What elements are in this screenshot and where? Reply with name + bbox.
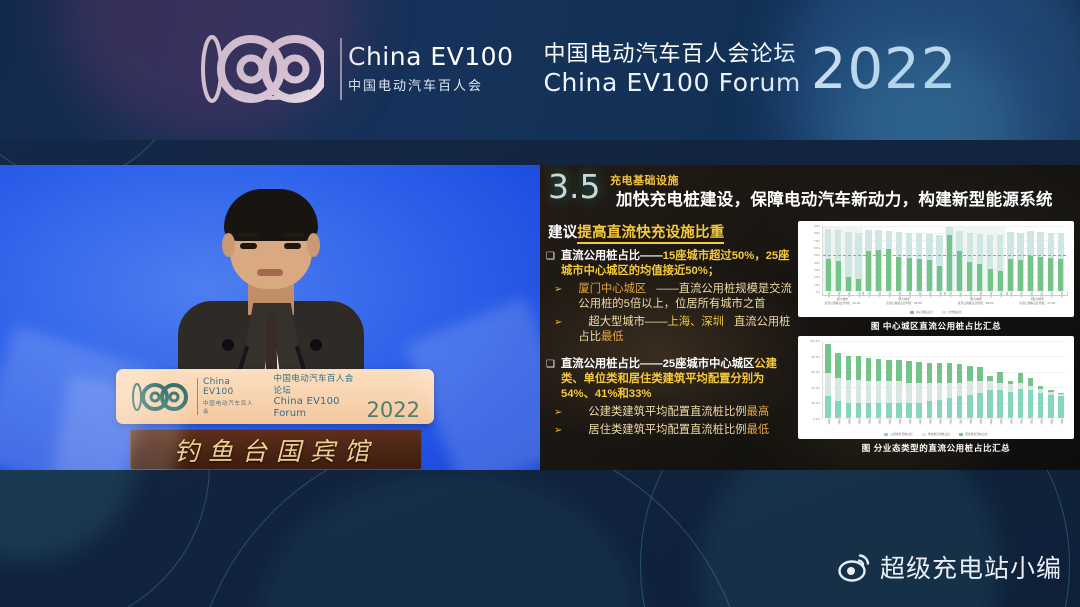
- y-axis-tick-label: 50%: [814, 253, 820, 257]
- chart-bar-value: [856, 279, 861, 291]
- chart-stack-segment: [937, 363, 942, 383]
- slide-header: 3.5 充电基础设施 加快充电桩建设，保障电动汽车新动力，构建新型能源系统: [548, 170, 1072, 216]
- bullet-arrow-icon: ➢: [554, 423, 562, 438]
- chart-stacked-bar: [846, 356, 851, 418]
- chart-stacked-bar: [896, 359, 901, 418]
- chart-bar-slot: 城市: [914, 226, 924, 291]
- podium-title-cn: 中国电动汽车百人会论坛: [274, 373, 362, 395]
- chart-stack-segment: [997, 372, 1002, 383]
- chart-bar-slot: 城市: [965, 341, 975, 418]
- chart-plot-area: 城市城市城市城市城市城市城市城市城市城市城市城市城市城市城市城市城市城市城市城市…: [822, 226, 1066, 292]
- chart-stack-segment: [1018, 373, 1023, 382]
- slide-section-number: 3.5: [548, 170, 600, 203]
- chart-bar-slot: 城市: [1005, 226, 1015, 291]
- weibo-icon: [838, 551, 871, 584]
- chart-stack-segment: [866, 381, 871, 403]
- slide-bullet-item: ➢公建类建筑平均配置直流桩比例最高: [546, 405, 798, 420]
- chart-bar-slot: 城市: [864, 341, 874, 418]
- y-axis-tick-label: 100.0%: [810, 339, 820, 343]
- chart-stack-segment: [856, 356, 861, 379]
- x-axis-tick-label: 城市: [836, 418, 840, 424]
- bullet-arrow-icon: ➢: [554, 315, 562, 345]
- chart-bar-value: [998, 271, 1003, 291]
- chart-bar-value: [907, 258, 912, 291]
- chart-bar-slot: 城市: [934, 341, 944, 418]
- slide-bullet-item: ➢居住类建筑平均配置直流桩比例最低: [546, 423, 798, 438]
- chart-stack-segment: [957, 364, 962, 382]
- banner-logo-en: China EV100: [348, 44, 513, 70]
- x-axis-tick-label: 城市: [1008, 418, 1012, 424]
- chart-bar-value: [1058, 259, 1063, 291]
- chart-stacked-bar: [927, 363, 932, 418]
- chart-stack-segment: [1048, 395, 1053, 418]
- chart-bar-slot: 城市: [874, 341, 884, 418]
- x-axis-tick-label: 城市: [1059, 418, 1063, 424]
- chart-bar-slot: 城市: [934, 226, 944, 291]
- chart-bar-slot: 城市: [945, 226, 955, 291]
- x-axis-tick-label: 城市: [846, 418, 850, 424]
- chart-stacked-bar: [1058, 393, 1063, 418]
- chart-stack-segment: [896, 360, 901, 382]
- y-axis-tick-label: 30%: [814, 268, 820, 272]
- x-axis-tick-label: 城市: [927, 418, 931, 424]
- chart-stack-segment: [937, 400, 942, 418]
- chart-stack-segment: [835, 378, 840, 401]
- chart-stacked-bar: [987, 376, 992, 418]
- podium-logo-cn: 中国电动汽车百人会: [203, 399, 259, 415]
- chart-bar-slot: 城市: [985, 341, 995, 418]
- chart-stacked-bar: [1008, 381, 1013, 418]
- x-axis-tick-label: 城市: [978, 418, 982, 424]
- chart-stack-segment: [997, 383, 1002, 391]
- y-axis-tick-label: 80%: [814, 231, 820, 235]
- chart-bar-slot: 城市: [985, 226, 995, 291]
- chart-stacked-bar: [916, 362, 921, 418]
- chart-stack-segment: [906, 403, 911, 418]
- chart-stack-segment: [896, 403, 901, 418]
- chart-stack-segment: [876, 359, 881, 381]
- bullet-text-segment: 直流公用桩占比——: [561, 250, 663, 262]
- slide-bullet-list: ❑直流公用桩占比——15座城市超过50%，25座城市中心城区的均值接近50%；➢…: [546, 249, 798, 441]
- chart-stack-segment: [916, 403, 921, 418]
- y-axis-tick-label: 90%: [814, 224, 820, 228]
- chart-stack-segment: [916, 362, 921, 383]
- bullet-text-segment: 最低: [747, 424, 770, 436]
- chart-stack-segment: [1058, 396, 1063, 418]
- chart-bar-slot: 城市: [853, 341, 863, 418]
- chart-stacked-bar: [856, 356, 861, 418]
- chart-group-label: 特大城市直流公用桩占比均值：46.9%: [863, 297, 945, 305]
- x-axis-tick-label: 城市: [917, 418, 921, 424]
- chart-legend-item: 居住类直流桩占比: [959, 432, 987, 436]
- chart-stack-segment: [967, 381, 972, 395]
- chart-stack-segment: [947, 398, 952, 418]
- banner-logo-cn: 中国电动汽车百人会: [348, 75, 513, 94]
- chart-stacked-bar: [997, 372, 1002, 418]
- x-axis-tick-label: 城市: [1029, 418, 1033, 424]
- chart-stack-segment: [835, 401, 840, 418]
- x-axis-tick-label: 城市: [877, 418, 881, 424]
- chart-stack-segment: [825, 396, 830, 418]
- chart-group-label: 超大城市直流公用桩占比均值：34.1%: [822, 297, 863, 305]
- y-axis-tick-label: 60%: [814, 246, 820, 250]
- chart-stack-segment: [856, 380, 861, 403]
- chart-bar-slot: 城市: [823, 226, 833, 291]
- chart-bar-slot: 城市: [1026, 226, 1036, 291]
- chart-bar-slot: 城市: [914, 341, 924, 418]
- bullet-text: 居住类建筑平均配置直流桩比例最低: [578, 423, 769, 438]
- chart-stack-segment: [967, 366, 972, 381]
- chart-stack-segment: [957, 396, 962, 418]
- chart-legend-item: 公建类直流桩占比: [884, 432, 912, 436]
- bullet-text: 直流公用桩占比——15座城市超过50%，25座城市中心城区的均值接近50%；: [561, 249, 798, 279]
- bullet-text-segment: 最低: [601, 331, 624, 343]
- y-axis-tick-label: 60.0%: [811, 370, 820, 374]
- chart-group-bracket: [1007, 292, 1069, 296]
- chart-stack-segment: [825, 344, 830, 373]
- chart-stack-segment: [927, 401, 932, 418]
- x-axis-tick-label: 城市: [1039, 418, 1043, 424]
- bullet-spacer: [546, 347, 798, 357]
- chart-bar-slot: 城市: [1056, 341, 1066, 418]
- subheading-prefix: 建议: [548, 225, 577, 241]
- chart-card-top: 90%80%70%60%50%40%30%20%10%0%城市城市城市城市城市城…: [798, 221, 1074, 317]
- chart-bar-value: [1048, 258, 1053, 291]
- bullet-text: 厦门中心城区——直流公用桩规模是交流公用桩的5倍以上，位居所有城市之首: [578, 282, 798, 312]
- chart-bar-slot: 城市: [1015, 341, 1025, 418]
- chart-stack-segment: [947, 383, 952, 398]
- bullet-square-icon: ❑: [546, 249, 555, 279]
- slide-chart-panel: 90%80%70%60%50%40%30%20%10%0%城市城市城市城市城市城…: [798, 221, 1074, 458]
- chart-stacked-bar: [906, 361, 911, 418]
- chart-bar-slot: 城市: [1056, 226, 1066, 291]
- chart-bar-value: [846, 277, 851, 291]
- x-axis-tick-label: 城市: [968, 418, 972, 424]
- chart-y-axis: 90%80%70%60%50%40%30%20%10%0%: [804, 226, 821, 292]
- banner-title-cn: 中国电动汽车百人会论坛: [543, 40, 800, 68]
- x-axis-tick-label: 城市: [897, 418, 901, 424]
- chart-y-axis: 100.0%80.0%60.0%40.0%20.0%0.0%: [804, 341, 821, 419]
- chart-bar-slot: 城市: [843, 226, 853, 291]
- x-axis-tick-label: 城市: [826, 418, 830, 424]
- y-axis-tick-label: 40%: [814, 261, 820, 265]
- event-banner: China EV100 中国电动汽车百人会 中国电动汽车百人会论坛 China …: [0, 0, 1080, 140]
- chart-stack-segment: [1008, 392, 1013, 418]
- y-axis-tick-label: 20.0%: [811, 401, 820, 405]
- chart-stack-segment: [967, 395, 972, 418]
- x-axis-tick-label: 城市: [958, 418, 962, 424]
- chart-stack-segment: [937, 383, 942, 400]
- chart-group-bracket: [863, 292, 945, 296]
- y-axis-tick-label: 10%: [814, 283, 820, 287]
- presentation-slide: 3.5 充电基础设施 加快充电桩建设，保障电动汽车新动力，构建新型能源系统 建议…: [540, 165, 1080, 470]
- chart-stacked-bar: [1028, 378, 1033, 418]
- chart-stack-segment: [886, 403, 891, 418]
- chart-stack-segment: [886, 360, 891, 382]
- chart-card-bottom: 100.0%80.0%60.0%40.0%20.0%0.0%城市城市城市城市城市…: [798, 336, 1074, 439]
- chart-bar-slot: 城市: [995, 341, 1005, 418]
- chart-group-label: I型大城市直流公用桩占比均值：38.3%: [945, 297, 1007, 305]
- chart-bar-slot: 城市: [884, 226, 894, 291]
- chart-bar-value: [947, 235, 952, 291]
- chart-stack-segment: [1028, 390, 1033, 418]
- bullet-arrow-icon: ➢: [554, 282, 562, 312]
- slide-bullet-item: ➢超大型城市——上海、深圳直流公用桩占比最低: [546, 315, 798, 345]
- chart-stacked-bar: [876, 359, 881, 418]
- x-axis-tick-label: 城市: [948, 418, 952, 424]
- chart-stack-segment: [906, 383, 911, 403]
- bullet-text-segment: 居住类建筑平均配置直流桩比例: [588, 424, 746, 436]
- chart-stack-segment: [825, 373, 830, 396]
- chart-stack-segment: [835, 353, 840, 378]
- slide-bullet-item: ❑直流公用桩占比——15座城市超过50%，25座城市中心城区的均值接近50%；: [546, 249, 798, 279]
- chart-bar-value: [876, 250, 881, 291]
- chart-bar-slot: 城市: [975, 226, 985, 291]
- stage-camera-view: China EV100 中国电动汽车百人会 中国电动汽车百人会论坛 China …: [0, 165, 540, 470]
- chart-bar-slot: 城市: [1036, 226, 1046, 291]
- chart-bar-slot: 城市: [833, 226, 843, 291]
- chart-bar-slot: 城市: [995, 226, 1005, 291]
- chart-stack-segment: [886, 381, 891, 403]
- chart-stack-segment: [1028, 378, 1033, 386]
- chart-stack-segment: [876, 403, 881, 418]
- subheading-highlight: 提高直流快充设施比重: [577, 225, 724, 244]
- chart-legend-item: 单位类直流桩占比: [922, 432, 950, 436]
- chart-bar-slot: 城市: [833, 341, 843, 418]
- chart-bar-slot: 城市: [864, 226, 874, 291]
- bullet-text-segment: 厦门中心城区: [578, 283, 646, 295]
- weibo-watermark-text: 超级充电站小编: [880, 549, 1062, 585]
- chart-stack-segment: [977, 367, 982, 381]
- chart-stack-segment: [987, 390, 992, 418]
- chart-bar-slot: 城市: [955, 226, 965, 291]
- bullet-text-segment: 上海、深圳: [667, 316, 724, 328]
- video-frame: China EV100 中国电动汽车百人会 中国电动汽车百人会论坛 China …: [0, 165, 1080, 470]
- slide-title: 加快充电桩建设，保障电动汽车新动力，构建新型能源系统: [616, 186, 1053, 210]
- chart-stack-segment: [916, 383, 921, 403]
- chart-stacked-bar: [937, 363, 942, 418]
- chart-bar-value: [1018, 260, 1023, 291]
- x-axis-tick-label: 城市: [1018, 418, 1022, 424]
- venue-plaque-text: 钓鱼台国宾馆: [174, 432, 378, 468]
- chart-bars: 城市城市城市城市城市城市城市城市城市城市城市城市城市城市城市城市城市城市城市城市…: [823, 341, 1066, 418]
- chart-bar-slot: 城市: [945, 341, 955, 418]
- banner-title-en: China EV100 Forum: [543, 68, 800, 98]
- y-axis-tick-label: 70%: [814, 239, 820, 243]
- chart-group-bracket: [822, 292, 863, 296]
- chart-bar-value: [1008, 259, 1013, 291]
- chart-bar-slot: 城市: [1046, 226, 1056, 291]
- chart-bar-slot: 城市: [894, 226, 904, 291]
- chart-bar-value: [917, 259, 922, 291]
- chart-bar-value: [866, 251, 871, 291]
- x-axis-tick-label: 城市: [907, 418, 911, 424]
- bullet-text: 直流公用桩占比——25座城市中心城区公建类、单位类和居住类建筑平均配置分别为54…: [561, 357, 798, 402]
- chart-bar-slot: 城市: [874, 226, 884, 291]
- y-axis-tick-label: 20%: [814, 275, 820, 279]
- chart-caption-bottom: 图 分业态类型的直流公用桩占比汇总: [798, 439, 1074, 458]
- chart-stacked-bar: [977, 367, 982, 418]
- bullet-text-segment: 最高: [747, 406, 770, 418]
- x-axis-tick-label: 城市: [1049, 418, 1053, 424]
- chart-bar-slot: 城市: [924, 341, 934, 418]
- chart-stack-segment: [846, 380, 851, 403]
- chart-bars: 城市城市城市城市城市城市城市城市城市城市城市城市城市城市城市城市城市城市城市城市…: [823, 226, 1066, 291]
- slide-bullet-item: ➢厦门中心城区——直流公用桩规模是交流公用桩的5倍以上，位居所有城市之首: [546, 282, 798, 312]
- chart-stacked-bar: [886, 359, 891, 418]
- bullet-square-icon: ❑: [546, 357, 555, 402]
- chart-bar-slot: 城市: [965, 226, 975, 291]
- chart-bar-value: [826, 259, 831, 292]
- chart-bar-slot: 城市: [1036, 341, 1046, 418]
- chart-average-line: [823, 255, 1066, 256]
- chart-bar-value: [988, 269, 993, 291]
- chart-bar-slot: 城市: [924, 226, 934, 291]
- chart-legend-item: 中心城区占比: [910, 310, 933, 314]
- chart-stack-segment: [866, 403, 871, 418]
- chart-stack-segment: [927, 383, 932, 401]
- x-axis-tick-label: 城市: [867, 418, 871, 424]
- weibo-watermark: 超级充电站小编: [838, 549, 1062, 585]
- chart-bar-value: [977, 264, 982, 291]
- chart-stack-segment: [1018, 389, 1023, 418]
- bullet-text: 超大型城市——上海、深圳直流公用桩占比最低: [578, 315, 798, 345]
- bullet-arrow-icon: ➢: [554, 405, 562, 420]
- chart-group-label: II型大城市直流公用桩占比均值：47.4%: [1007, 297, 1069, 305]
- chart-group-bracket: [945, 292, 1007, 296]
- chart-bar-value: [1038, 257, 1043, 291]
- chart-stack-segment: [977, 393, 982, 418]
- chart-bar-slot: 城市: [843, 341, 853, 418]
- chart-bar-value: [927, 260, 932, 291]
- chart-bar-slot: 城市: [884, 341, 894, 418]
- chart-stack-segment: [846, 356, 851, 379]
- chart-plot-area: 城市城市城市城市城市城市城市城市城市城市城市城市城市城市城市城市城市城市城市城市…: [822, 341, 1066, 419]
- chart-stacked-bar: [947, 363, 952, 418]
- chart-bar-slot: 城市: [1015, 226, 1025, 291]
- slide-subheading: 建议提高直流快充设施比重: [548, 221, 724, 242]
- chart-bar-slot: 城市: [1046, 341, 1056, 418]
- chart-bar-slot: 城市: [904, 226, 914, 291]
- chart-stacked-bar: [1018, 373, 1023, 418]
- bullet-text-segment: 直流公用桩占比——25座城市中心城区: [561, 358, 754, 370]
- podium-year: 2022: [367, 401, 420, 420]
- chart-stack-segment: [927, 363, 932, 383]
- y-axis-tick-label: 80.0%: [811, 355, 820, 359]
- chart-stacked-bar: [967, 366, 972, 418]
- y-axis-tick-label: 0.0%: [813, 417, 820, 421]
- chart-stacked-bar: [1048, 390, 1053, 418]
- y-axis-tick-label: 40.0%: [811, 386, 820, 390]
- chart-bar-slot: 城市: [975, 341, 985, 418]
- chart-stack-segment: [1038, 393, 1043, 418]
- chart-stack-segment: [846, 403, 851, 418]
- chart-bar-slot: 城市: [823, 341, 833, 418]
- chart-stack-segment: [906, 361, 911, 383]
- chart-stacked-bar: [866, 358, 871, 418]
- chart-stacked-bar: [957, 364, 962, 418]
- x-axis-tick-label: 城市: [998, 418, 1002, 424]
- chart-bar-slot: 城市: [955, 341, 965, 418]
- x-axis-tick-label: 城市: [856, 418, 860, 424]
- bullet-text-segment: 公建类建筑平均配置直流桩比例: [588, 406, 746, 418]
- chart-bar-slot: 城市: [1026, 341, 1036, 418]
- chart-stacked-bar: [835, 353, 840, 418]
- chart-stack-segment: [856, 403, 861, 418]
- x-axis-tick-label: 城市: [937, 418, 941, 424]
- chart-stacked-bar: [1038, 386, 1043, 418]
- chart-stack-segment: [997, 390, 1002, 418]
- podium-logo-en: China EV100: [203, 378, 259, 398]
- podium-title-en: China EV100 Forum: [274, 396, 362, 420]
- chart-bar-slot: 城市: [904, 341, 914, 418]
- chart-bar-slot: 城市: [853, 226, 863, 291]
- chart-bar-value: [836, 261, 841, 291]
- chart-stack-segment: [977, 381, 982, 393]
- chart-bar-value: [1028, 256, 1033, 291]
- chart-stack-segment: [1008, 384, 1013, 392]
- chart-stack-segment: [896, 381, 901, 403]
- chart-stack-segment: [866, 358, 871, 381]
- chart-bar-value: [957, 251, 962, 291]
- chart-bar-value: [896, 257, 901, 291]
- chart-stack-segment: [957, 383, 962, 397]
- bullet-text-segment: 超大型城市——: [588, 316, 667, 328]
- chart-bar-slot: 城市: [894, 341, 904, 418]
- x-axis-tick-label: 城市: [887, 418, 891, 424]
- slide-bullet-item: ❑直流公用桩占比——25座城市中心城区公建类、单位类和居住类建筑平均配置分别为5…: [546, 357, 798, 402]
- chart-caption-top: 图 中心城区直流公用桩占比汇总: [798, 317, 1074, 336]
- chart-stack-segment: [987, 381, 992, 390]
- chart-bar-value: [937, 266, 942, 291]
- x-axis-tick-label: 城市: [988, 418, 992, 424]
- chart-stacked-bar: [825, 344, 830, 418]
- chart-bar-slot: 城市: [1005, 341, 1015, 418]
- chart-stack-segment: [876, 381, 881, 403]
- chart-stack-segment: [947, 363, 952, 382]
- bullet-text: 公建类建筑平均配置直流桩比例最高: [578, 405, 769, 420]
- chart-legend-item: 全市域占比: [942, 310, 962, 314]
- chart-bar-value: [967, 262, 972, 291]
